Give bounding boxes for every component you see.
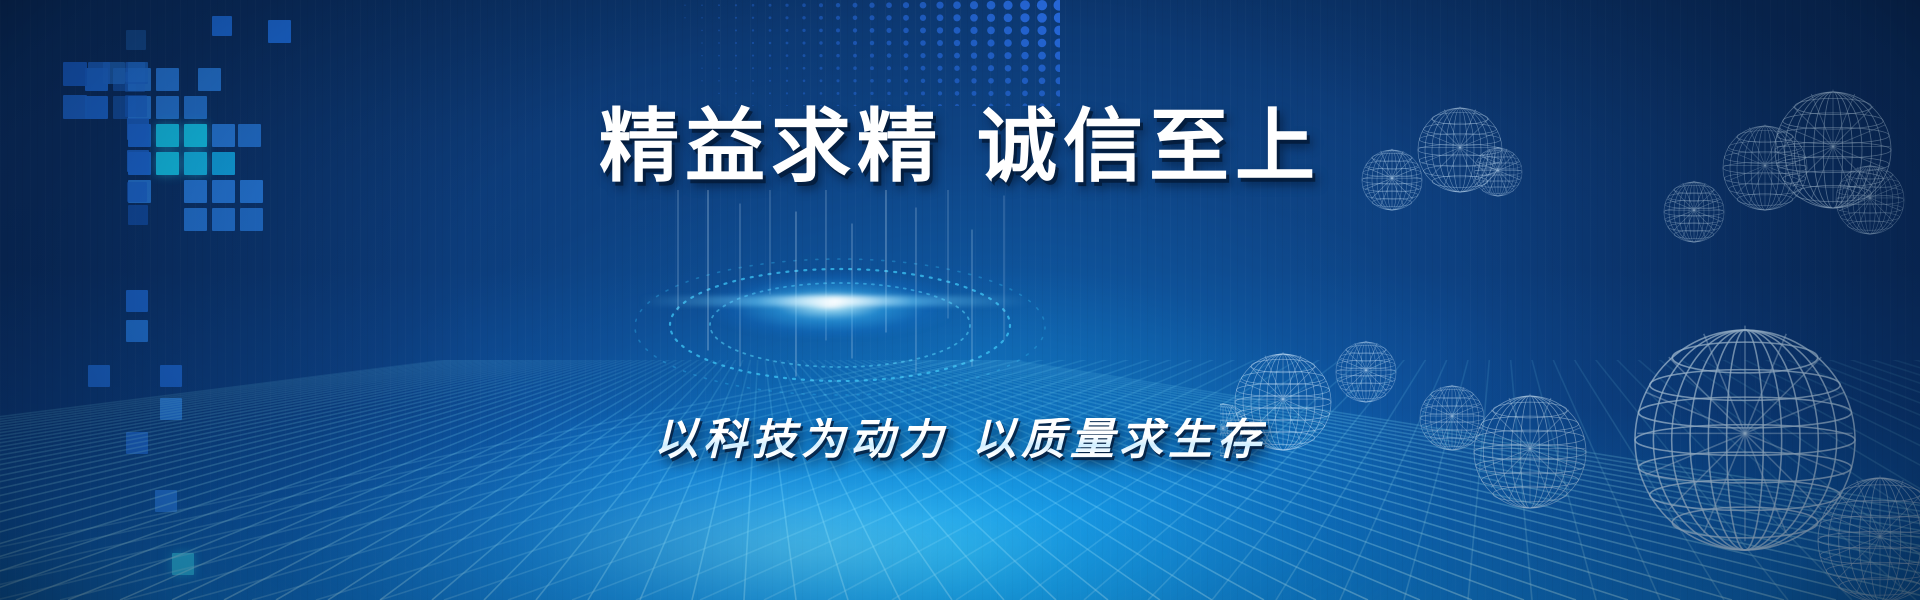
mosaic-pixel	[126, 320, 148, 342]
mosaic-pixel	[126, 62, 148, 84]
mosaic-pixel	[212, 180, 235, 203]
mosaic-pixel	[126, 30, 146, 50]
mosaic-pixel	[128, 68, 151, 91]
wireframe-globe-icon	[1418, 106, 1502, 192]
mosaic-pixel	[198, 68, 221, 91]
mosaic-pixel	[155, 490, 177, 512]
light-flare-streak-icon	[640, 296, 1030, 306]
mosaic-pixel	[268, 20, 291, 43]
mosaic-pixel	[238, 124, 261, 147]
headline-part-1: 精益求精	[599, 104, 943, 192]
wireframe-globe-icon	[1836, 165, 1904, 234]
mosaic-pixel	[240, 208, 263, 231]
mosaic-pixel	[63, 95, 87, 119]
wireframe-globe-cluster-icon	[1220, 0, 1920, 600]
mosaic-pixel	[212, 208, 235, 231]
mosaic-pixel	[128, 205, 148, 225]
perspective-grid-floor-icon	[0, 360, 1920, 600]
halftone-dot-grid-icon	[628, 0, 1060, 106]
wireframe-globe-icon	[1723, 124, 1807, 210]
dotted-orbit-ring-icon	[600, 190, 1080, 410]
mosaic-pixel	[128, 96, 151, 119]
page-subtitle: 以科技为动力以质量求生存	[654, 418, 1266, 462]
pixel-mosaic	[0, 0, 340, 540]
mosaic-pixel	[88, 62, 110, 84]
mosaic-pixel	[126, 290, 148, 312]
mosaic-pixel	[172, 553, 194, 575]
wireframe-globe-icon	[1818, 476, 1920, 600]
mosaic-pixel	[212, 16, 232, 36]
mosaic-pixel	[128, 180, 151, 203]
subtitle-part-1: 以科技为动力	[654, 415, 948, 464]
headline-part-2: 诚信至上	[977, 104, 1321, 192]
mosaic-pixel	[127, 118, 149, 140]
mosaic-pixel	[156, 96, 179, 119]
mosaic-pixel	[160, 365, 182, 387]
mosaic-pixel	[63, 62, 87, 86]
mosaic-pixel	[85, 96, 108, 119]
mosaic-pixel	[125, 62, 145, 82]
wireframe-globe-icon	[1362, 149, 1422, 210]
mosaic-pixel	[113, 68, 136, 91]
mosaic-pixel	[127, 150, 149, 172]
mosaic-pixel	[127, 182, 147, 202]
wireframe-globe-icon	[1474, 147, 1522, 196]
mosaic-pixel	[156, 152, 179, 175]
light-flare-core-icon	[710, 272, 950, 338]
mosaic-pixel	[156, 124, 179, 147]
vertical-streak-texture	[0, 0, 1920, 600]
mosaic-pixel	[160, 398, 182, 420]
mosaic-pixel	[103, 62, 125, 84]
mosaic-pixel	[128, 124, 151, 147]
mosaic-pixel	[113, 96, 136, 119]
wireframe-globe-icon	[1775, 90, 1891, 208]
mosaic-pixel	[128, 152, 151, 175]
mosaic-pixel	[240, 180, 263, 203]
mosaic-pixel	[88, 365, 110, 387]
mosaic-pixel	[184, 208, 207, 231]
mosaic-pixel	[125, 95, 147, 117]
mosaic-pixel	[85, 68, 108, 91]
mosaic-pixel	[125, 72, 145, 92]
wireframe-globe-icon	[1420, 385, 1484, 450]
wireframe-globe-icon	[1220, 403, 1249, 456]
mosaic-pixel	[184, 152, 207, 175]
wireframe-globe-icon	[1664, 181, 1724, 242]
mosaic-pixel	[212, 152, 235, 175]
wireframe-globe-icon	[1635, 326, 1855, 550]
mosaic-pixel	[126, 432, 148, 454]
page-title: 精益求精诚信至上	[599, 108, 1321, 188]
wireframe-globe-icon	[1235, 352, 1331, 450]
wireframe-globe-icon	[1336, 341, 1396, 402]
headline-block: 精益求精诚信至上	[0, 108, 1920, 188]
mosaic-pixel	[184, 124, 207, 147]
wireframe-globe-icon	[1474, 394, 1586, 508]
mosaic-pixel	[128, 62, 148, 82]
mosaic-pixel	[212, 124, 235, 147]
mosaic-pixel	[184, 180, 207, 203]
subtitle-block: 以科技为动力以质量求生存	[0, 418, 1920, 462]
mosaic-pixel	[184, 96, 207, 119]
floor-glow	[180, 390, 1430, 600]
subtitle-part-2: 以质量求生存	[972, 415, 1266, 464]
hero-banner: 精益求精诚信至上 以科技为动力以质量求生存	[0, 0, 1920, 600]
vignette-overlay	[0, 0, 1920, 600]
mosaic-pixel	[156, 68, 179, 91]
